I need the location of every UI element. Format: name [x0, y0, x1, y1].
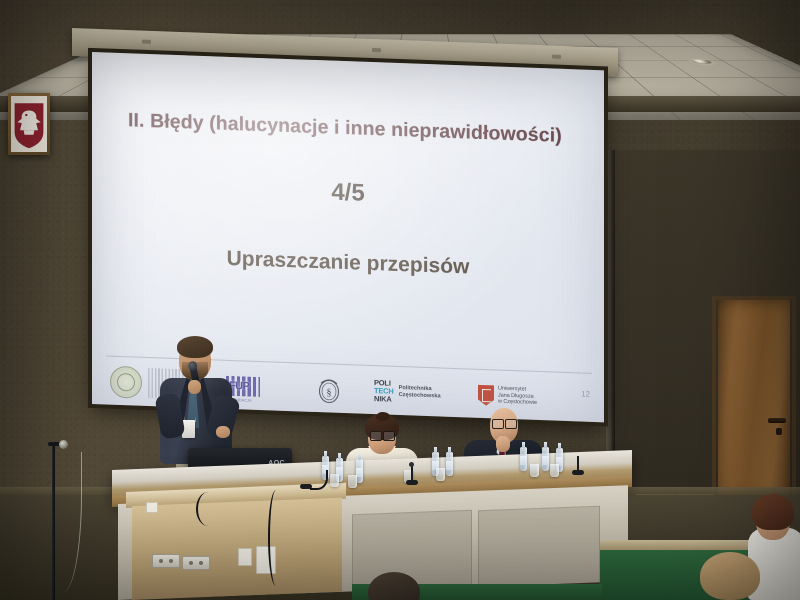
- audience-person-front-hair: [700, 552, 760, 600]
- mic-stem: [411, 466, 413, 482]
- notary-seal-logo: §: [316, 370, 342, 409]
- equipment-desk-body: [132, 498, 342, 600]
- water-bottle: [356, 459, 363, 483]
- water-bottle: [542, 447, 549, 471]
- panelist-woman-bun: [376, 412, 390, 421]
- emblem-inner: [11, 96, 47, 152]
- power-outlet-icon[interactable]: [152, 554, 180, 568]
- drinking-glass: [550, 464, 559, 477]
- door-handle-icon[interactable]: [768, 418, 786, 423]
- slide-page-number: 12: [581, 390, 590, 399]
- mic-head: [409, 462, 414, 467]
- door-lock-icon: [776, 428, 782, 435]
- politechnika-mark-icon: POLI TECH NIKA: [374, 379, 394, 404]
- water-bottle: [520, 447, 527, 471]
- panelist-man-hand: [496, 436, 510, 452]
- panelist-woman-glasses-icon: [370, 431, 395, 439]
- desk-sign-icon: [238, 548, 252, 566]
- table-front-panel: [478, 506, 600, 592]
- slide-subtitle: Upraszczanie przepisów: [92, 242, 604, 284]
- ptech-line3: NIKA: [374, 395, 394, 404]
- polish-coat-of-arms: [8, 93, 50, 155]
- power-outlet-icon[interactable]: [182, 556, 210, 570]
- ptech-name2: Częstochowska: [399, 392, 441, 401]
- audience-woman-right-hair: [752, 494, 794, 530]
- speaker-hair: [177, 336, 213, 358]
- mic-stem: [577, 456, 579, 472]
- microphone-icon: [48, 440, 68, 449]
- desk-sign-icon: [146, 502, 158, 513]
- housing-clip: [142, 40, 151, 45]
- conference-room-photo: II. Błędy (halucynacje i inne nieprawidł…: [0, 0, 800, 600]
- slide-title: II. Błędy (halucynacje i inne nieprawidł…: [128, 109, 578, 148]
- slide-fraction: 4/5: [92, 170, 604, 216]
- drinking-glass: [348, 475, 357, 488]
- drinking-glass: [436, 468, 445, 481]
- room-door[interactable]: [718, 300, 790, 500]
- housing-clip: [552, 55, 561, 60]
- politechnika-name: Politechnika Częstochowska: [399, 385, 441, 401]
- left-seal-logo: [110, 363, 142, 402]
- paragraph-seal-svg: §: [316, 374, 342, 405]
- notary-seal-icon: §: [316, 374, 342, 405]
- housing-clip: [372, 48, 381, 53]
- svg-text:§: §: [327, 387, 332, 398]
- eagle-shield-icon: [11, 96, 47, 152]
- panelist-man-glasses-icon: [492, 419, 517, 427]
- circular-seal-icon: [110, 366, 142, 399]
- drinking-glass: [330, 474, 339, 487]
- desk-cable: [196, 492, 220, 526]
- speaker-hand-right: [216, 426, 230, 438]
- politechnika-logo: POLI TECH NIKA Politechnika Częstochowsk…: [374, 372, 441, 412]
- desk-cable: [268, 490, 284, 586]
- drinking-glass: [530, 464, 539, 477]
- speaker-hand-left: [188, 380, 201, 394]
- water-bottle: [446, 452, 453, 476]
